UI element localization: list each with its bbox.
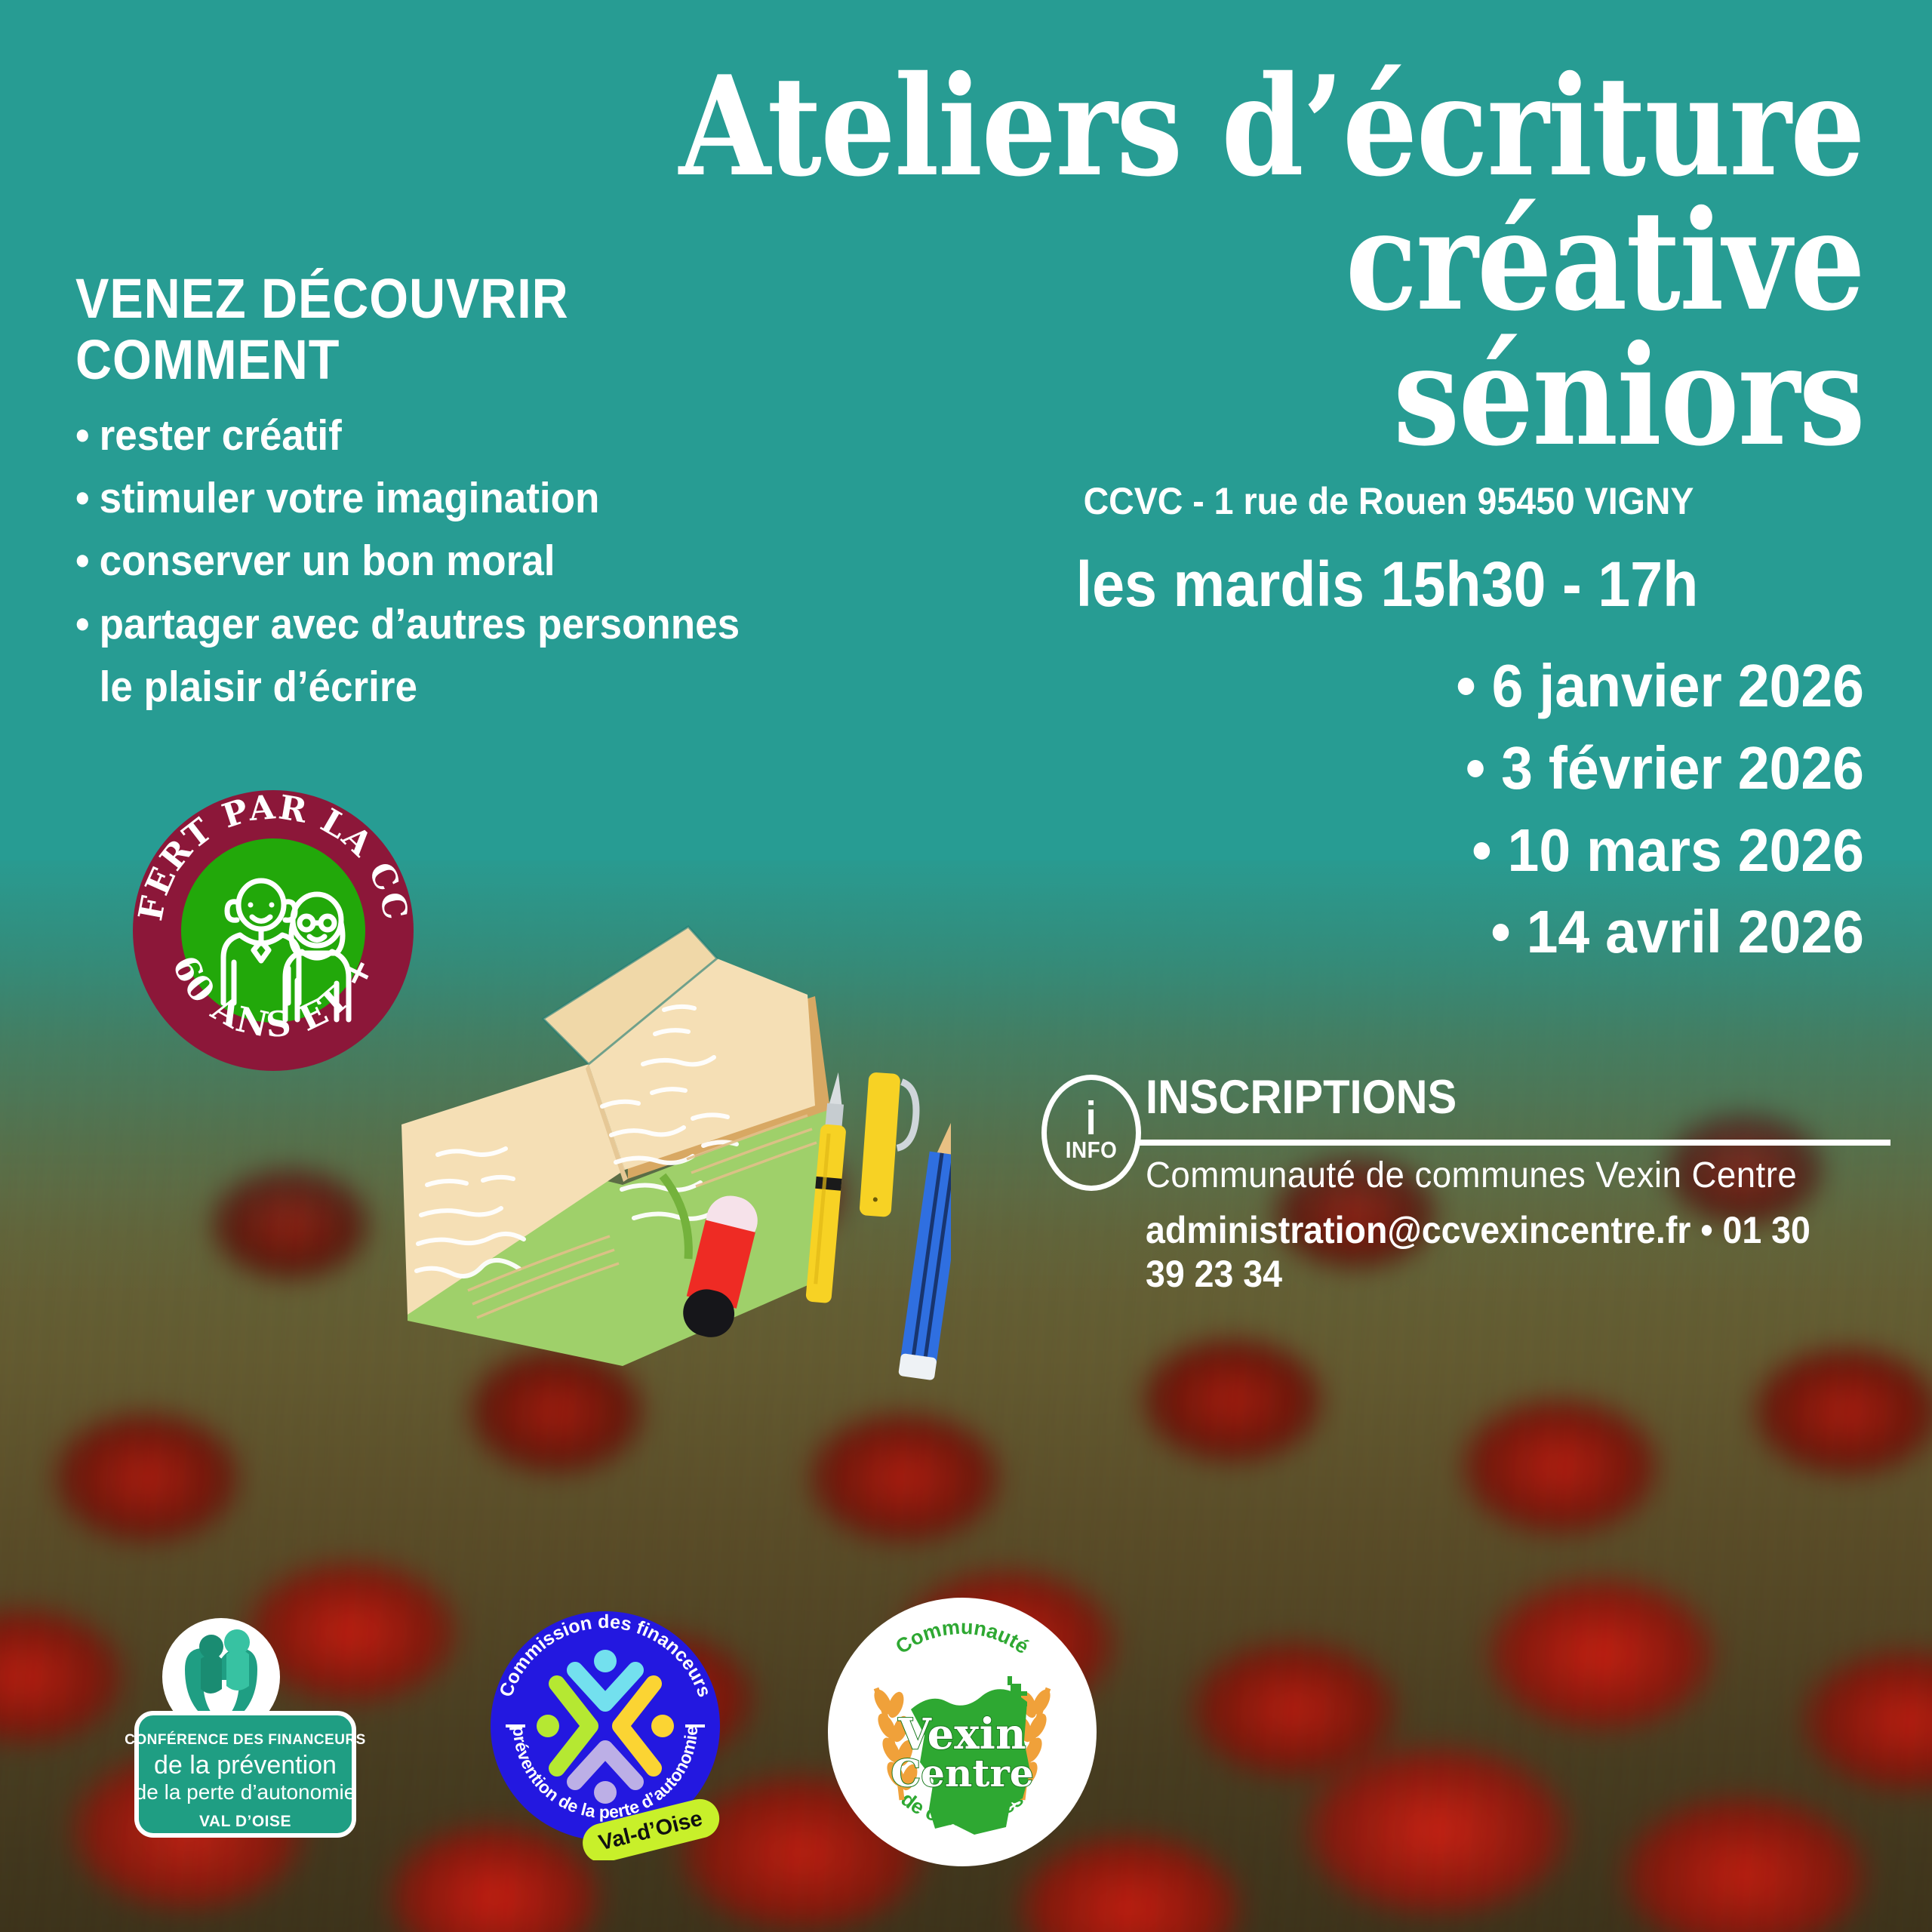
list-item-label: conserver un bon moral (100, 537, 555, 585)
list-item: •partager avec d’autres personnes (75, 593, 862, 656)
subheading-line-1: VENEZ DÉCOUVRIR (75, 268, 823, 329)
cdf-line-3: de la perte d’autonomie (135, 1780, 356, 1804)
list-item-label: stimuler votre imagination (100, 474, 600, 522)
cdf-line-4: VAL D’OISE (199, 1813, 291, 1830)
bullet-dot-icon: • (1456, 652, 1475, 719)
info-icon-letter: i (1086, 1102, 1097, 1137)
info-icon-label: INFO (1066, 1137, 1117, 1164)
list-item: •rester créatif (75, 405, 862, 467)
list-item-continuation: le plaisir d’écrire (75, 656, 862, 718)
benefits-list: •rester créatif •stimuler votre imaginat… (75, 405, 862, 718)
date-item: • 6 janvier 2026 (913, 645, 1864, 728)
divider (1140, 1140, 1890, 1146)
subheading-line-2: COMMENT (75, 329, 823, 390)
bullet-dot-icon: • (75, 405, 100, 467)
bullet-dot-icon: • (75, 467, 100, 530)
list-item-label: partager avec d’autres personnes (100, 600, 740, 648)
cdf-line-2: de la prévention (154, 1751, 337, 1780)
date-label: 3 février 2026 (1501, 734, 1864, 801)
date-label: 6 janvier 2026 (1492, 652, 1864, 719)
vc-name-line-2: Centre (891, 1751, 1033, 1795)
list-item: •stimuler votre imagination (75, 467, 862, 530)
pencil (898, 1112, 951, 1381)
logo-conference-des-financeurs: CONFÉRENCE DES FINANCEURS de la préventi… (125, 1607, 366, 1841)
cdf-line-1: CONFÉRENCE DES FINANCEURS (125, 1731, 366, 1748)
pen-cap (859, 1072, 918, 1218)
date-item: • 3 février 2026 (913, 728, 1864, 810)
session-dates-list: • 6 janvier 2026 • 3 février 2026 • 10 m… (913, 645, 1864, 974)
subheading: VENEZ DÉCOUVRIR COMMENT (75, 268, 823, 391)
session-times: les mardis 15h30 - 17h (929, 548, 1845, 621)
open-book-illustration (362, 808, 951, 1419)
bullet-dot-icon: • (1491, 898, 1510, 965)
inscriptions-contact: administration@ccvexincentre.fr • 01 30 … (1146, 1208, 1842, 1296)
date-item: • 10 mars 2026 (913, 810, 1864, 892)
venue-address: CCVC - 1 rue de Rouen 95450 VIGNY (933, 479, 1845, 523)
date-label: 10 mars 2026 (1508, 817, 1864, 884)
bullet-dot-icon: • (75, 530, 100, 592)
poster-canvas: Ateliers d’écriture créative séniors VEN… (0, 0, 1932, 1932)
info-icon: i INFO (1041, 1075, 1141, 1191)
bullet-dot-icon: • (1472, 817, 1491, 884)
bullet-dot-icon: • (1466, 734, 1485, 801)
date-label: 14 avril 2026 (1527, 898, 1864, 965)
list-item-label: rester créatif (100, 411, 342, 460)
logo-vexin-centre: Communauté de communes (826, 1596, 1098, 1868)
poster-title: Ateliers d’écriture créative séniors (332, 59, 1864, 463)
bullet-dot-icon: • (75, 593, 100, 656)
inscriptions-organisation: Communauté de communes Vexin Centre (1146, 1155, 1797, 1196)
inscriptions-heading: INSCRIPTIONS (1146, 1070, 1457, 1124)
logo-commission-des-financeurs: Commission des financeurs prévention de … (491, 1611, 721, 1860)
date-item: • 14 avril 2026 (913, 891, 1864, 974)
list-item: •conserver un bon moral (75, 530, 862, 592)
